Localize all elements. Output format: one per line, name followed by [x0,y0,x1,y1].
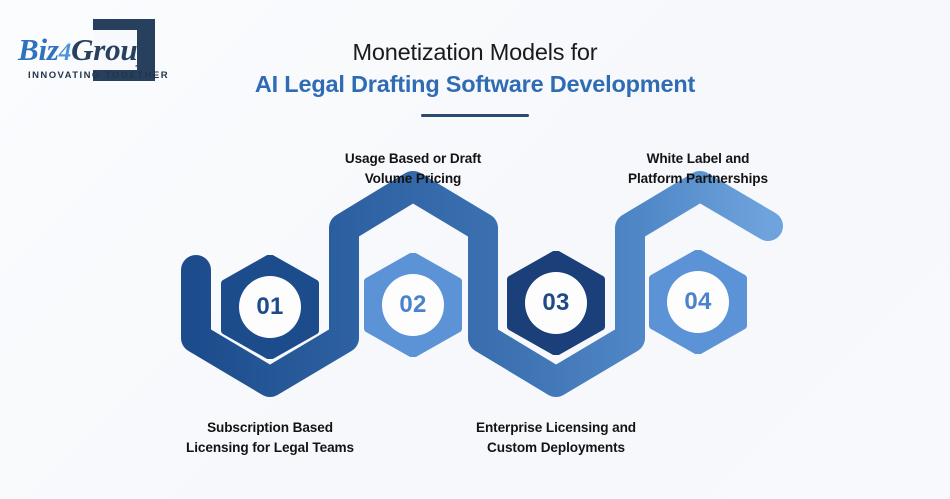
step-marker-02[interactable]: 02 [361,253,465,357]
step-caption-03-line2: Custom Deployments [436,438,676,458]
step-caption-02-line1: Usage Based or Draft [303,149,523,169]
step-number-01: 01 [256,293,283,321]
page-title: Monetization Models for AI Legal Draftin… [175,38,775,117]
step-caption-04-line1: White Label and [588,149,808,169]
step-number-disc-02: 02 [382,274,444,336]
step-marker-04[interactable]: 04 [646,250,750,354]
step-number-02: 02 [399,291,426,319]
step-marker-01[interactable]: 01 [218,255,322,359]
step-caption-04-line2: Platform Partnerships [588,169,808,189]
title-line-2: AI Legal Drafting Software Development [175,70,775,99]
title-divider [421,114,529,117]
step-number-04: 04 [684,288,711,316]
step-caption-01-line1: Subscription Based [150,418,390,438]
step-caption-03-line1: Enterprise Licensing and [436,418,676,438]
biz4group-logo: Biz4Group INNOVATING TOGETHER [14,18,174,90]
step-caption-04: White Label and Platform Partnerships [588,149,808,188]
logo-word-four: 4 [59,39,71,66]
logo-word-biz: Biz [18,32,59,67]
infographic-canvas: Biz4Group INNOVATING TOGETHER Monetizati… [0,0,950,499]
step-number-disc-01: 01 [239,276,301,338]
step-number-disc-03: 03 [525,272,587,334]
step-caption-01: Subscription Based Licensing for Legal T… [150,418,390,457]
step-caption-03: Enterprise Licensing and Custom Deployme… [436,418,676,457]
logo-tagline: INNOVATING TOGETHER [28,70,169,81]
logo-wordmark: Biz4Group [18,34,166,65]
process-diagram: 01 02 03 04 [0,130,950,470]
title-line-1: Monetization Models for [175,38,775,66]
step-caption-02: Usage Based or Draft Volume Pricing [303,149,523,188]
step-number-03: 03 [542,289,569,317]
step-marker-03[interactable]: 03 [504,251,608,355]
step-number-disc-04: 04 [667,271,729,333]
step-caption-02-line2: Volume Pricing [303,169,523,189]
logo-word-group: Group [71,32,153,67]
step-caption-01-line2: Licensing for Legal Teams [150,438,390,458]
